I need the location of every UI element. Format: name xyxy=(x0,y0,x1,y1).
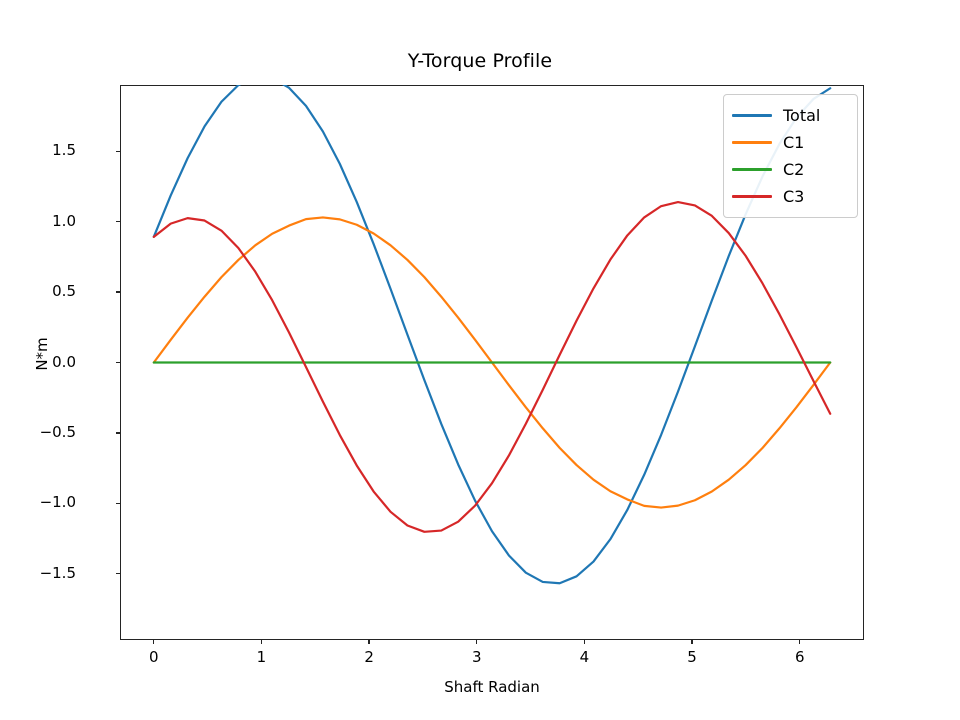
y-tick-mark xyxy=(116,291,120,292)
x-tick-label: 0 xyxy=(142,648,166,666)
y-tick-mark xyxy=(116,503,120,504)
legend-item-label: C3 xyxy=(783,189,804,205)
legend-color-swatch xyxy=(732,141,772,144)
y-tick-label: −1.0 xyxy=(40,493,76,511)
y-tick-label: −1.5 xyxy=(40,564,76,582)
x-tick-label: 6 xyxy=(788,648,812,666)
x-tick-label: 3 xyxy=(465,648,489,666)
y-tick-label: 1.0 xyxy=(52,212,76,230)
x-tick-mark xyxy=(153,640,154,644)
series-line-c3 xyxy=(154,202,830,532)
x-tick-mark xyxy=(799,640,800,644)
legend-item-c2[interactable]: C2 xyxy=(732,156,849,183)
legend-item-label: C1 xyxy=(783,135,804,151)
legend-item-c1[interactable]: C1 xyxy=(732,129,849,156)
x-tick-mark xyxy=(476,640,477,644)
x-tick-mark xyxy=(691,640,692,644)
legend-color-swatch xyxy=(732,195,772,198)
x-tick-label: 4 xyxy=(572,648,596,666)
chart-title: Y-Torque Profile xyxy=(0,50,960,72)
legend-item-label: Total xyxy=(783,108,820,124)
x-tick-label: 2 xyxy=(357,648,381,666)
chart-legend[interactable]: TotalC1C2C3 xyxy=(723,94,858,218)
y-tick-mark xyxy=(116,221,120,222)
y-tick-label: 1.5 xyxy=(52,141,76,159)
legend-item-c3[interactable]: C3 xyxy=(732,183,849,210)
x-tick-label: 5 xyxy=(680,648,704,666)
x-tick-mark xyxy=(261,640,262,644)
y-tick-mark xyxy=(116,151,120,152)
x-tick-mark xyxy=(584,640,585,644)
legend-color-swatch xyxy=(732,168,772,171)
x-tick-label: 1 xyxy=(249,648,273,666)
legend-item-total[interactable]: Total xyxy=(732,102,849,129)
legend-item-label: C2 xyxy=(783,162,804,178)
x-axis-label: Shaft Radian xyxy=(120,678,864,696)
y-tick-mark xyxy=(116,573,120,574)
y-tick-label: 0.0 xyxy=(52,353,76,371)
x-tick-mark xyxy=(368,640,369,644)
y-tick-mark xyxy=(116,432,120,433)
legend-color-swatch xyxy=(732,114,772,117)
y-tick-mark xyxy=(116,362,120,363)
y-tick-label: −0.5 xyxy=(40,423,76,441)
y-axis-label: N*m xyxy=(33,304,51,404)
matplotlib-figure: Y-Torque Profile −1.5−1.0−0.50.00.51.01.… xyxy=(0,0,960,720)
y-tick-label: 0.5 xyxy=(52,282,76,300)
